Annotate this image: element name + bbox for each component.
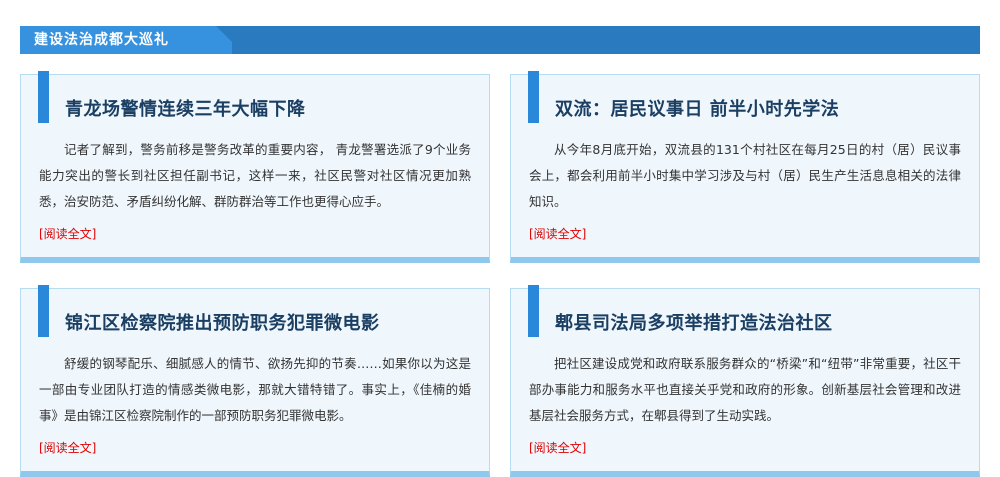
accent-bar <box>38 71 49 123</box>
news-card[interactable]: 青龙场警情连续三年大幅下降 记者了解到，警务前移是警务改革的重要内容， 青龙警署… <box>20 74 490 263</box>
section-banner-tab: 建设法治成都大巡礼 <box>20 26 232 54</box>
news-card-body: 舒缓的钢琴配乐、细腻感人的情节、欲扬先抑的节奏……如果你以为这是一部由专业团队打… <box>39 351 471 429</box>
news-card-title: 锦江区检察院推出预防职务犯罪微电影 <box>65 309 471 339</box>
read-full-article-link[interactable]: [阅读全文] <box>39 439 96 457</box>
accent-bar <box>528 285 539 337</box>
news-card-grid: 青龙场警情连续三年大幅下降 记者了解到，警务前移是警务改革的重要内容， 青龙警署… <box>20 74 980 477</box>
news-card-title: 青龙场警情连续三年大幅下降 <box>65 95 471 125</box>
news-card-row: 青龙场警情连续三年大幅下降 记者了解到，警务前移是警务改革的重要内容， 青龙警署… <box>20 74 980 263</box>
news-card-body: 从今年8月底开始，双流县的131个村社区在每月25日的村（居）民议事会上，都会利… <box>529 137 961 215</box>
read-full-article-link[interactable]: [阅读全文] <box>529 225 586 243</box>
news-card[interactable]: 锦江区检察院推出预防职务犯罪微电影 舒缓的钢琴配乐、细腻感人的情节、欲扬先抑的节… <box>20 288 490 477</box>
section-banner: 建设法治成都大巡礼 <box>20 26 980 54</box>
news-card-row: 锦江区检察院推出预防职务犯罪微电影 舒缓的钢琴配乐、细腻感人的情节、欲扬先抑的节… <box>20 288 980 477</box>
accent-bar <box>38 285 49 337</box>
news-card-body: 记者了解到，警务前移是警务改革的重要内容， 青龙警署选派了9个业务能力突出的警长… <box>39 137 471 215</box>
news-card[interactable]: 郫县司法局多项举措打造法治社区 把社区建设成党和政府联系服务群众的“桥梁”和“纽… <box>510 288 980 477</box>
read-full-article-link[interactable]: [阅读全文] <box>529 439 586 457</box>
news-card[interactable]: 双流：居民议事日 前半小时先学法 从今年8月底开始，双流县的131个村社区在每月… <box>510 74 980 263</box>
section-title: 建设法治成都大巡礼 <box>20 26 169 54</box>
accent-bar <box>528 71 539 123</box>
read-full-article-link[interactable]: [阅读全文] <box>39 225 96 243</box>
news-card-title: 双流：居民议事日 前半小时先学法 <box>555 95 961 125</box>
news-card-body: 把社区建设成党和政府联系服务群众的“桥梁”和“纽带”非常重要，社区干部办事能力和… <box>529 351 961 429</box>
news-card-title: 郫县司法局多项举措打造法治社区 <box>555 309 961 339</box>
